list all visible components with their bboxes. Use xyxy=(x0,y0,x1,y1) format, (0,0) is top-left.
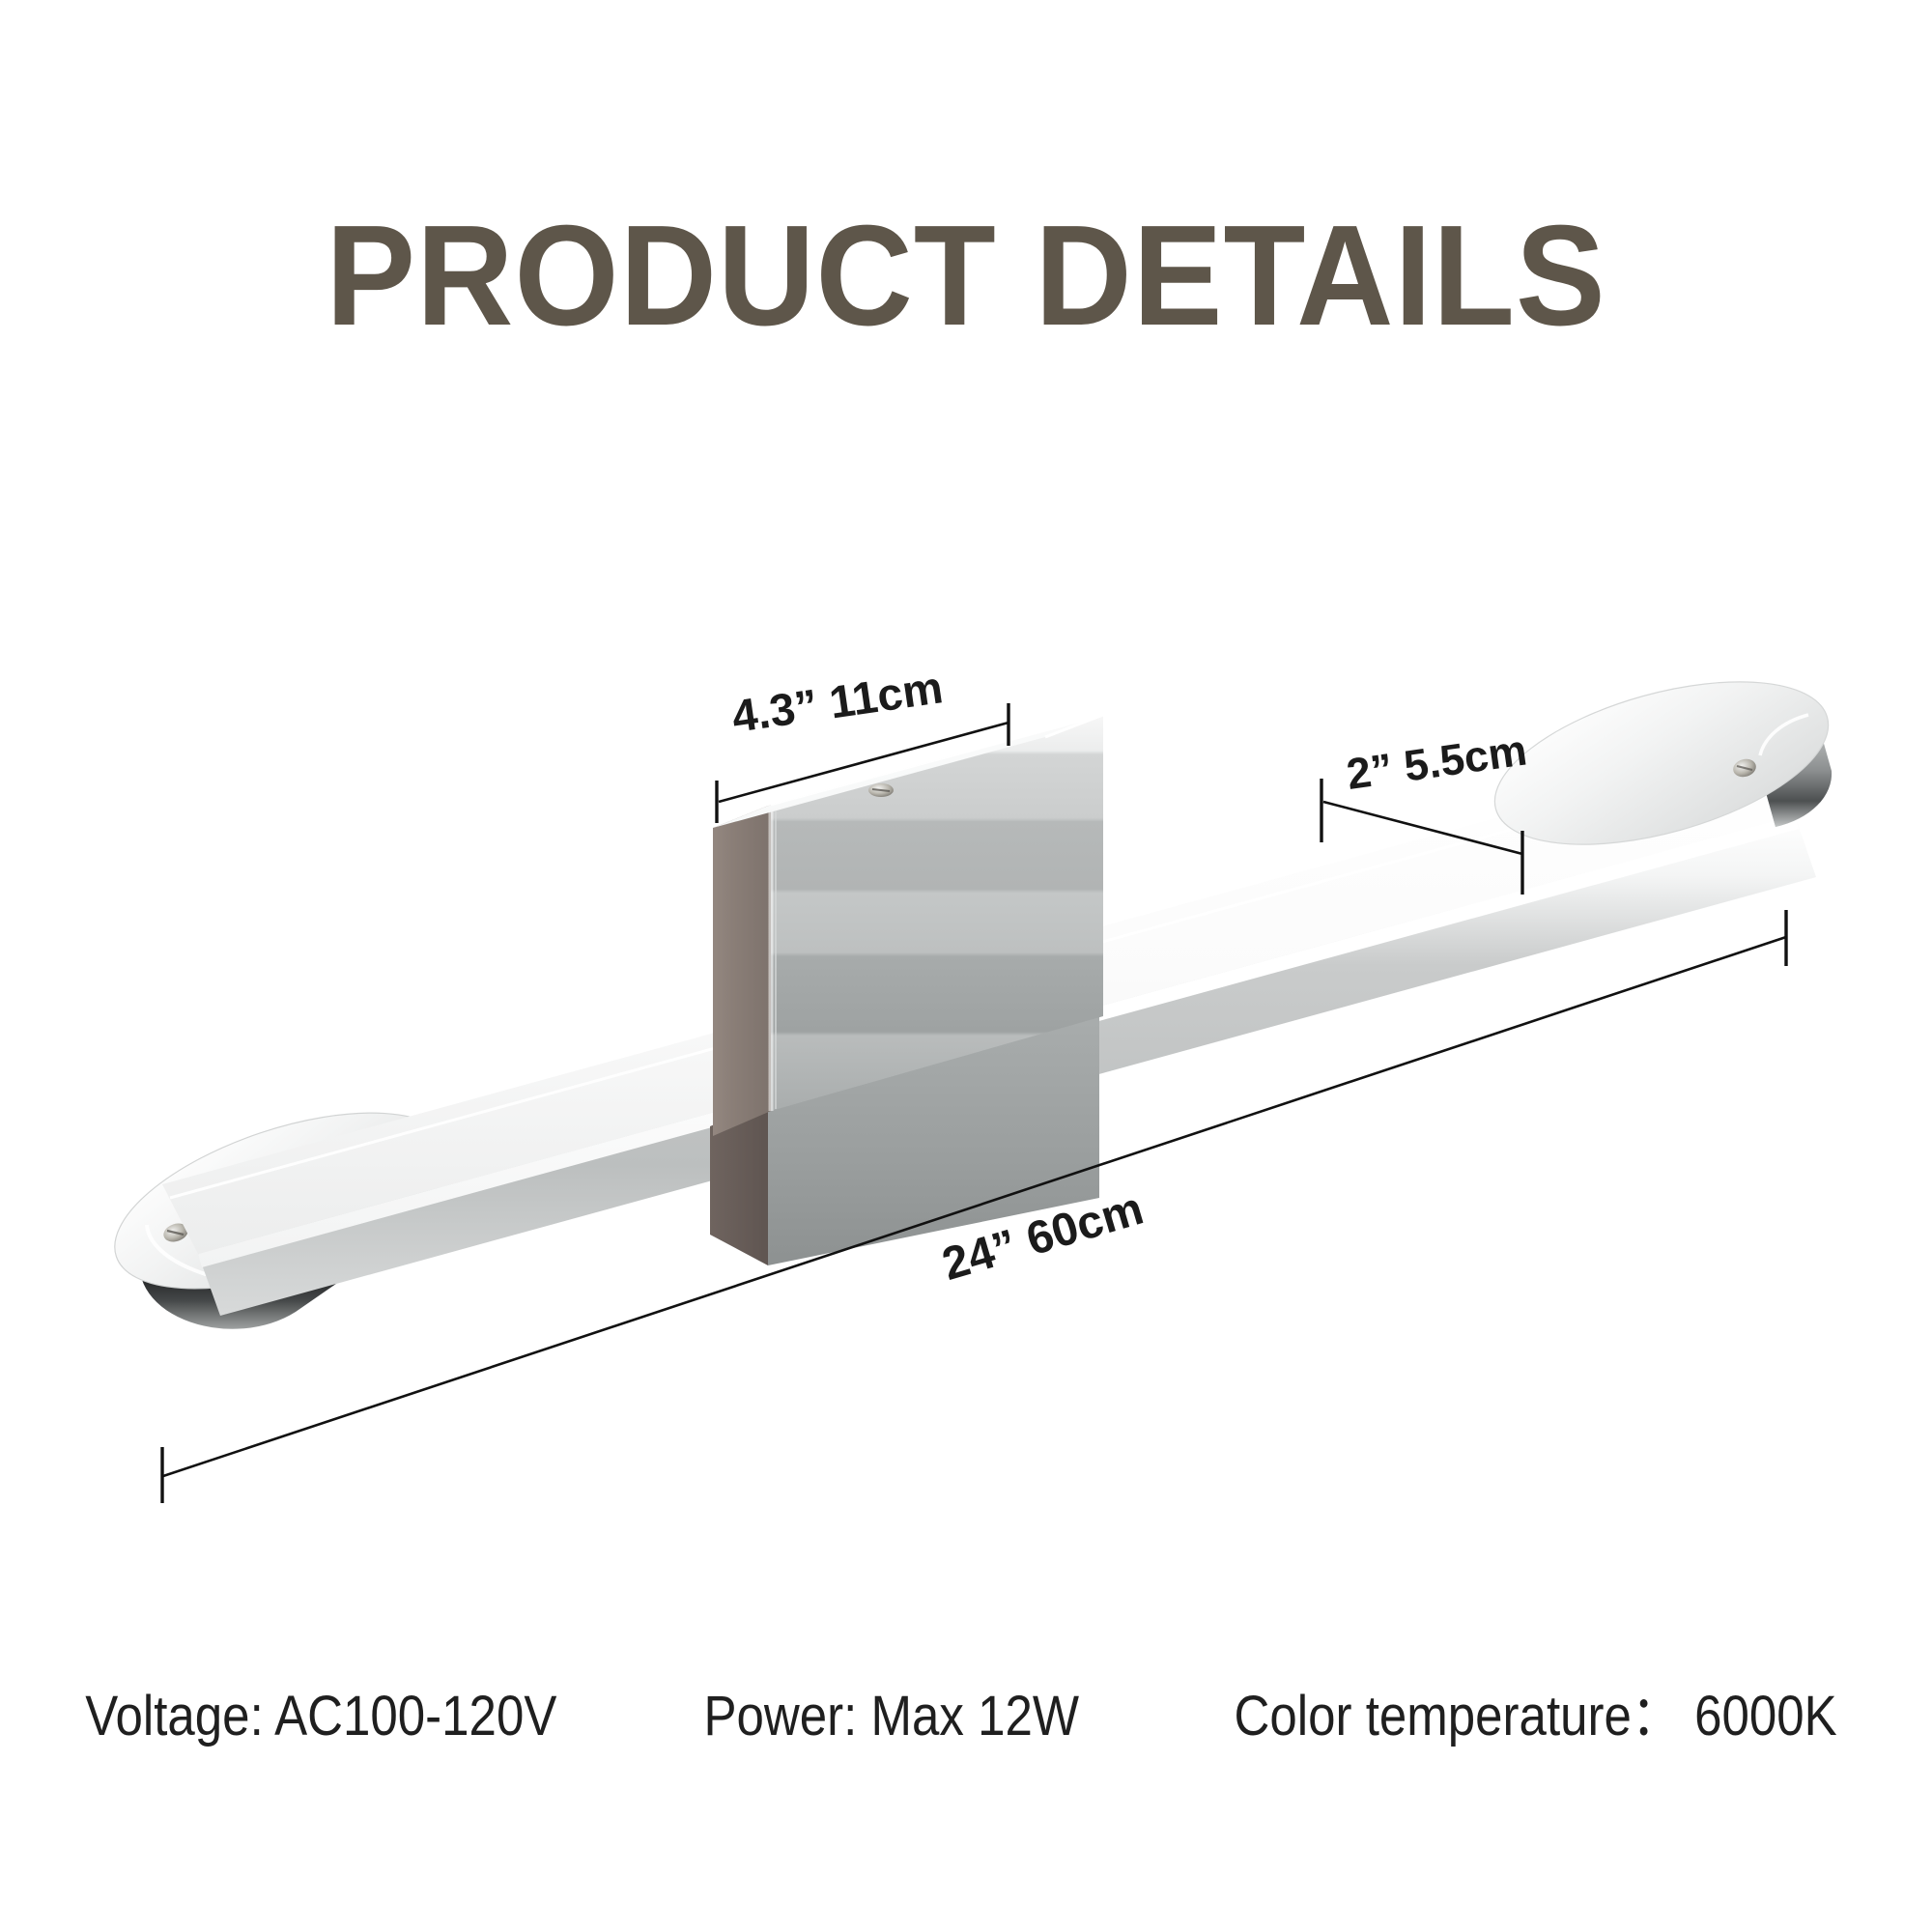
spec-voltage: Voltage: AC100-120V xyxy=(86,1683,557,1750)
spec-power: Power: Max 12W xyxy=(703,1683,1079,1750)
product-details-page: PRODUCT DETAILS xyxy=(0,0,1932,1932)
product-illustration xyxy=(0,0,1932,1932)
spec-row: Voltage: AC100-120V Power: Max 12W Color… xyxy=(116,1683,1816,1750)
spec-color-temperature: Color temperature： 6000K xyxy=(1235,1683,1837,1750)
mounting-box-side-face xyxy=(713,805,771,1136)
